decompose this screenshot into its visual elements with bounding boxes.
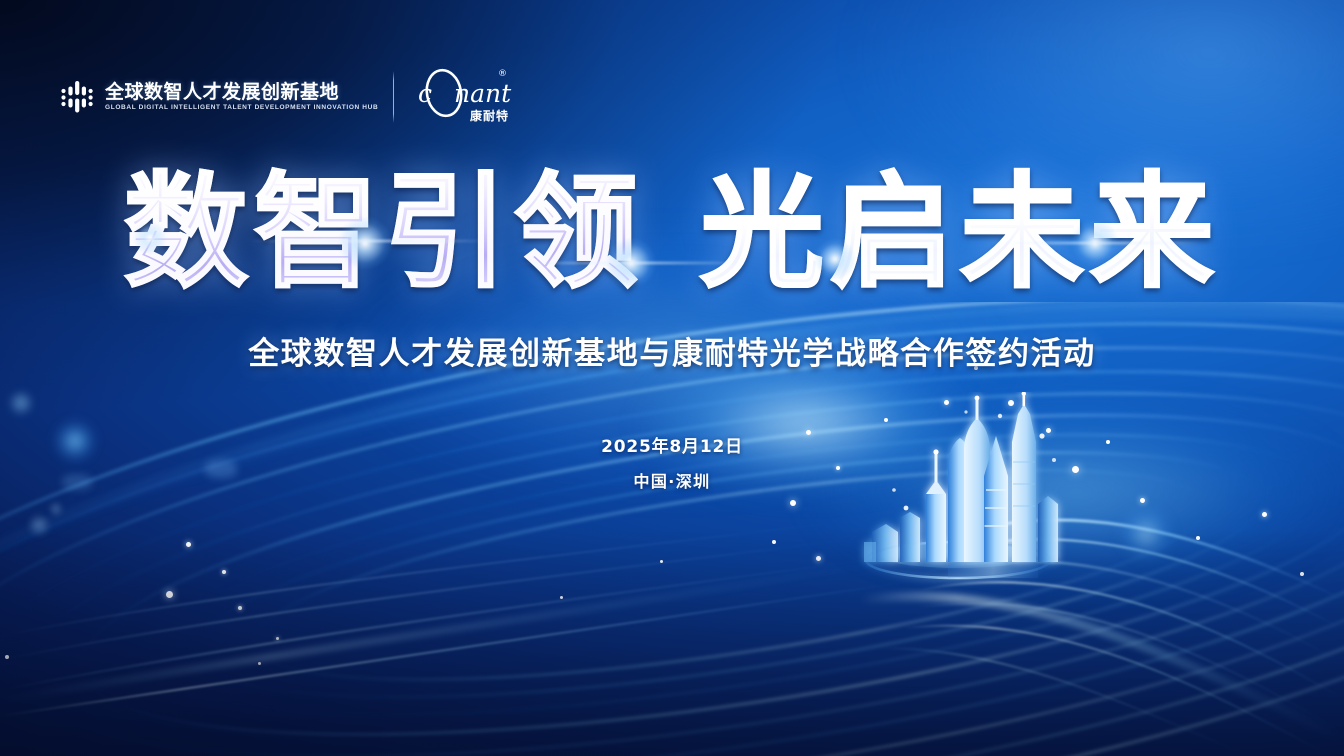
svg-text:康耐特: 康耐特 — [470, 108, 509, 123]
title-part-1: 数智引领 — [124, 168, 644, 299]
event-meta: 2025年8月12日 中国·深圳 — [0, 432, 1344, 492]
city-skyline-icon — [846, 392, 1076, 592]
event-date: 2025年8月12日 — [0, 432, 1344, 457]
brand-header: 全球数智人才发展创新基地 GLOBAL DIGITAL INTELLIGENT … — [60, 66, 526, 128]
hero-subtitle: 全球数智人才发展创新基地与康耐特光学战略合作签约活动 — [0, 328, 1344, 373]
dot-matrix-pulse-icon — [60, 79, 94, 115]
event-key-visual: 全球数智人才发展创新基地 GLOBAL DIGITAL INTELLIGENT … — [0, 0, 1344, 756]
svg-text:®: ® — [498, 69, 507, 79]
hub-name-cn: 全球数智人才发展创新基地 — [105, 83, 373, 102]
hero-title: 数智引领 光启未来 — [0, 168, 1344, 299]
hub-logo[interactable]: 全球数智人才发展创新基地 GLOBAL DIGITAL INTELLIGENT … — [60, 79, 373, 115]
title-part-2: 光启未来 — [700, 168, 1220, 299]
background-bottom-shade — [0, 529, 1344, 756]
svg-text:nant: nant — [454, 79, 512, 108]
svg-text:c: c — [418, 79, 432, 108]
vertical-divider-icon — [393, 71, 394, 123]
event-location: 中国·深圳 — [0, 468, 1344, 492]
partner-logo[interactable]: c nant ® 康耐特 — [414, 66, 526, 128]
hub-name-en: GLOBAL DIGITAL INTELLIGENT TALENT DEVELO… — [105, 105, 378, 111]
